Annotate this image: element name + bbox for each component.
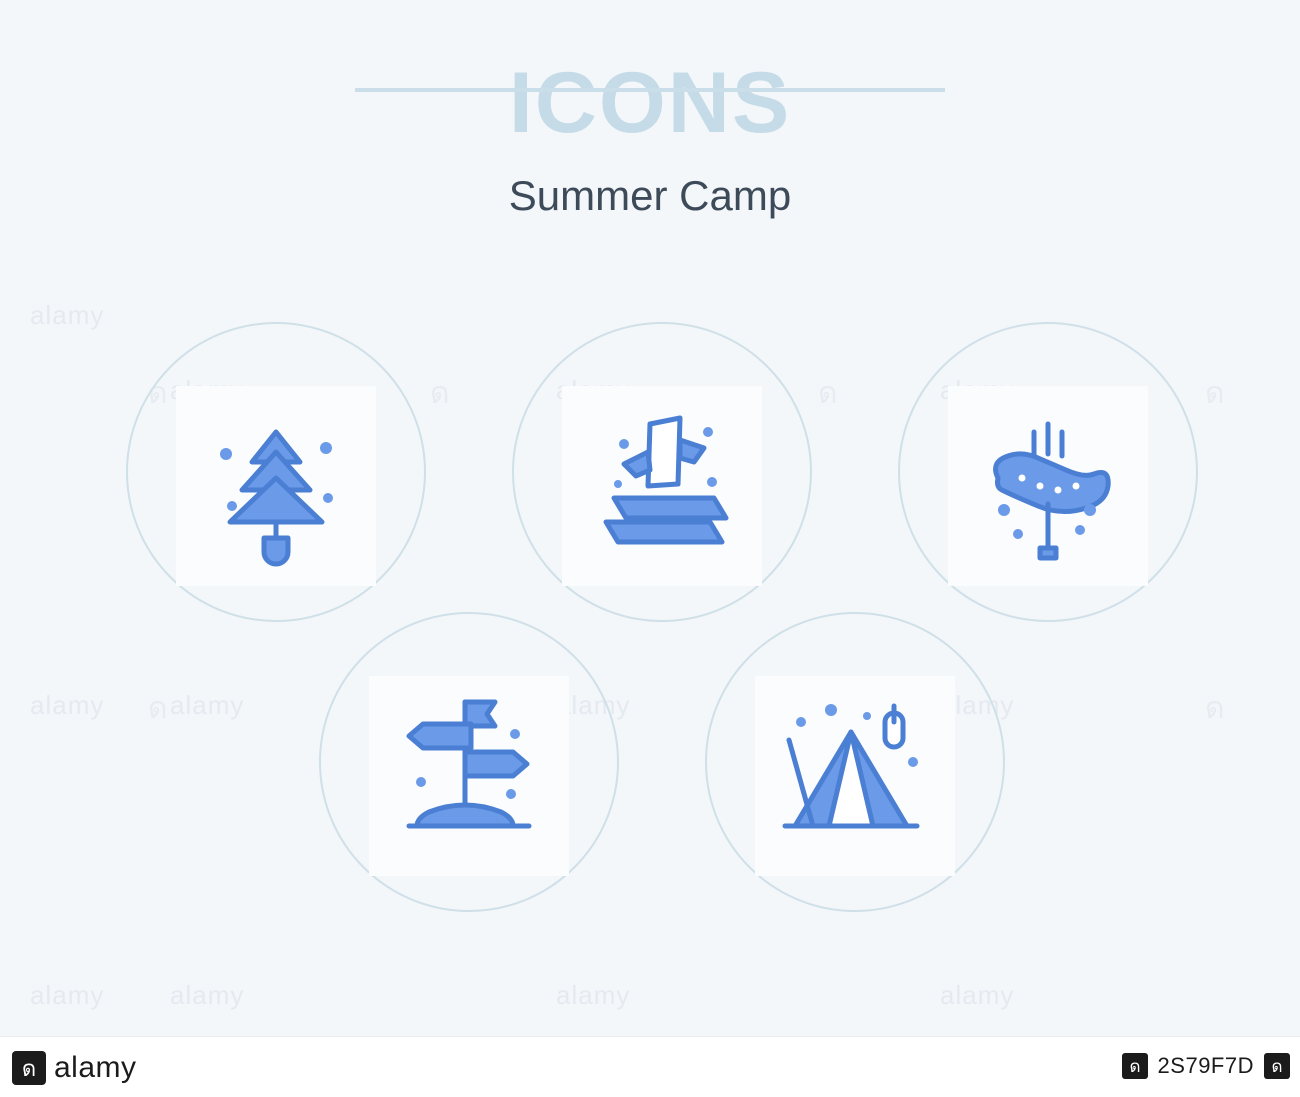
- icon-tile-signpost[interactable]: [369, 676, 569, 876]
- footer-bar: ด alamy ด 2S79F7D ด: [0, 1036, 1300, 1097]
- watermark-text: alamy: [170, 980, 244, 1011]
- alamy-logo-icon: ด: [1122, 1053, 1148, 1079]
- watermark-mark: ด: [818, 370, 837, 417]
- svg-text:ด: ด: [22, 1056, 36, 1081]
- watermark-text: alamy: [556, 980, 630, 1011]
- poster-canvas: alamy ด alamy ด alamy ด alamy ด alamy ด …: [0, 0, 1300, 1036]
- footer-brand-label: alamy: [54, 1051, 137, 1085]
- watermark-mark: ด: [1205, 685, 1224, 732]
- pine-tree-icon: [176, 386, 376, 586]
- footer-image-id-group: ด 2S79F7D ด: [1122, 1053, 1290, 1079]
- alamy-logo-icon: ด: [12, 1051, 46, 1085]
- icon-tile-pine-tree[interactable]: [176, 386, 376, 586]
- icon-tile-campfire-logs[interactable]: [562, 386, 762, 586]
- image-id-label: 2S79F7D: [1158, 1053, 1254, 1079]
- watermark-text: alamy: [30, 690, 104, 721]
- watermark-text: alamy: [30, 980, 104, 1011]
- watermark-text: alamy: [940, 980, 1014, 1011]
- footer-brand: ด alamy: [12, 1051, 137, 1085]
- watermark-text: alamy: [170, 690, 244, 721]
- watermark-mark: ด: [148, 685, 167, 732]
- watermark-mark: ด: [430, 370, 449, 417]
- icon-tile-sausage-on-stick[interactable]: [948, 386, 1148, 586]
- brand-word: ICONS: [0, 60, 1300, 146]
- brand-underline: [355, 88, 945, 92]
- sausage-on-stick-icon: [948, 386, 1148, 586]
- campfire-logs-icon: [562, 386, 762, 586]
- watermark-text: alamy: [30, 300, 104, 331]
- alamy-logo-icon: ด: [1264, 1053, 1290, 1079]
- poster-header: ICONS: [0, 60, 1300, 146]
- watermark-mark: ด: [1205, 370, 1224, 417]
- signpost-icon: [369, 676, 569, 876]
- icon-tile-tent[interactable]: [755, 676, 955, 876]
- tent-icon: [755, 676, 955, 876]
- page-title: Summer Camp: [0, 172, 1300, 220]
- svg-text:ด: ด: [1271, 1057, 1282, 1076]
- svg-text:ด: ด: [1129, 1057, 1140, 1076]
